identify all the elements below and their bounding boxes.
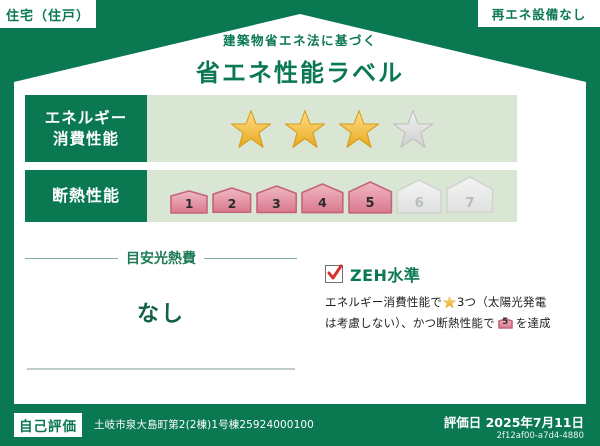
grade-badge-5-value: 5 <box>347 196 393 211</box>
star-1-filled-icon <box>227 109 275 149</box>
zeh-title-text: ZEH水準 <box>350 262 420 286</box>
document-id: 2f12af00-a7d4-4880 <box>497 431 584 441</box>
utility-cost-value: なし <box>25 296 297 328</box>
row-energy-label: エネルギー 消費性能 <box>25 95 147 162</box>
evaluation-date-label: 評価日 <box>444 415 482 430</box>
star-4-empty-icon <box>389 109 437 149</box>
grade-badge-6-value: 6 <box>395 196 443 211</box>
performance-rows: エネルギー 消費性能 断熱性能 1234567 <box>25 95 517 230</box>
star-2-filled-icon <box>281 109 329 149</box>
grade-badge-6-inactive: 6 <box>395 178 443 215</box>
utility-cost-block: 目安光熱費 なし <box>25 248 297 328</box>
grade-badge-3-active: 3 <box>255 184 298 214</box>
row-energy-consumption: エネルギー 消費性能 <box>25 95 517 162</box>
zeh-block: ZEH水準 エネルギー消費性能で3つ（太陽光発電 は考慮しない）、かつ断熱性能で… <box>325 262 577 333</box>
utility-cost-divider <box>27 368 295 370</box>
grade-badge-7-inactive: 7 <box>445 175 495 214</box>
zeh-desc-line1-pre: エネルギー消費性能で <box>325 295 442 309</box>
grade-badge-1-active: 1 <box>169 189 209 215</box>
grade-scale: 1234567 <box>169 175 495 216</box>
row-insulation-label: 断熱性能 <box>25 170 147 222</box>
row-energy-label-line2: 消費性能 <box>53 129 119 150</box>
row-energy-value <box>147 95 517 162</box>
row-insulation-performance: 断熱性能 1234567 <box>25 170 517 222</box>
grade-badge-4-active: 4 <box>300 182 345 215</box>
zeh-desc-line1-post: 3つ（太陽光発電 <box>457 295 546 309</box>
inline-grade-value: 5 <box>497 315 514 329</box>
inline-grade-badge: 5 <box>497 317 514 330</box>
grade-badge-3-value: 3 <box>255 196 298 211</box>
grade-badge-2-value: 2 <box>211 197 253 211</box>
row-insulation-label-line1: 断熱性能 <box>52 185 120 207</box>
label-title: 建築物省エネ法に基づく 省エネ性能ラベル <box>0 30 600 88</box>
zeh-description: エネルギー消費性能で3つ（太陽光発電 は考慮しない）、かつ断熱性能で5を達成 <box>325 293 577 333</box>
grade-badge-2-active: 2 <box>211 186 253 214</box>
inline-star-icon <box>443 297 456 311</box>
grade-badge-7-value: 7 <box>445 195 495 211</box>
row-insulation-value: 1234567 <box>147 170 517 222</box>
row-energy-label-line1: エネルギー <box>45 108 128 129</box>
evaluation-date-value: 2025年7月11日 <box>486 415 584 430</box>
zeh-desc-line2-pre: は考慮しない）、かつ断熱性能で <box>325 316 495 330</box>
title-main: 省エネ性能ラベル <box>0 53 600 88</box>
zeh-desc-line2-post: を達成 <box>516 316 551 330</box>
property-address: 土岐市泉大島町第2(2棟)1号棟25924000100 <box>94 417 314 432</box>
grade-badge-5-active: 5 <box>347 180 393 215</box>
heading-rule-right <box>204 258 297 259</box>
utility-cost-heading: 目安光熱費 <box>25 248 297 268</box>
self-evaluation-badge: 自己評価 <box>14 413 82 437</box>
lower-section: 目安光熱費 なし ZEH水準 エネルギー消費性能で3つ（太陽光発電 は考慮しない… <box>25 248 573 378</box>
tag-renewable-energy: 再エネ設備なし <box>478 0 600 27</box>
grade-badge-1-value: 1 <box>169 197 209 211</box>
evaluation-date: 評価日 2025年7月11日 <box>444 412 584 431</box>
zeh-title-row: ZEH水準 <box>325 262 577 286</box>
tag-building-type: 住宅（住戸） <box>0 0 96 28</box>
utility-cost-heading-text: 目安光熱費 <box>126 248 196 268</box>
energy-label: 住宅（住戸） 再エネ設備なし 建築物省エネ法に基づく 省エネ性能ラベル エネルギ… <box>0 0 600 446</box>
grade-badge-4-value: 4 <box>300 196 345 211</box>
zeh-checkbox-checked-icon <box>325 265 343 283</box>
title-subtitle: 建築物省エネ法に基づく <box>0 30 600 49</box>
star-3-filled-icon <box>335 109 383 149</box>
heading-rule-left <box>25 258 118 259</box>
star-rating <box>224 109 440 149</box>
label-footer: 自己評価 土岐市泉大島町第2(2棟)1号棟25924000100 評価日 202… <box>0 404 600 446</box>
